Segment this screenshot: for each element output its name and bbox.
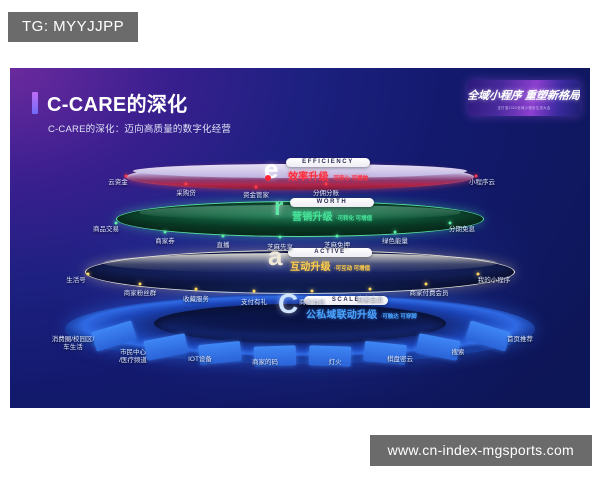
node-label: 支付有礼 [241, 299, 267, 307]
headline-scale: 公私域联动升级 [306, 306, 377, 321]
node-label: 芝麻免押 [324, 242, 350, 250]
node-label: 资金管家 [243, 192, 269, 200]
slide-canvas: C-CARE的深化 C-CARE的深化：迈向高质量的数字化经营 全域小程序 重塑… [10, 68, 590, 408]
node-label: 采购贷 [176, 190, 196, 198]
node-label: 商家消息 [299, 299, 325, 307]
node-dot [475, 175, 478, 178]
tg-watermark-badge: TG: MYYJJPP [8, 12, 138, 42]
node-label: 搜索 [452, 349, 465, 357]
badge-efficiency: EFFICIENCY 效率升级 ·可安心 可提效 [286, 158, 370, 183]
node-dot [195, 288, 198, 291]
node-dot [336, 235, 339, 238]
headline-efficiency: 效率升级 [288, 168, 329, 183]
url-watermark-badge: www.cn-index-mgsports.com [370, 435, 592, 466]
brand-logo-sub: 支付宝2022全域小程序生态大会 [497, 105, 550, 110]
node-label: 分佣分账 [313, 190, 339, 198]
node-dot [87, 273, 90, 276]
node-dot [477, 273, 480, 276]
node-dot [425, 283, 428, 286]
node-label: IOT设备 [188, 356, 212, 364]
subline-worth: 营销升级 ·可转化 可增值 [290, 208, 372, 223]
node-label: 商家券 [155, 238, 175, 246]
title-text: C-CARE的深化 [47, 88, 187, 117]
node-label: 商家会员 [357, 296, 383, 304]
node-label: 商品交易 [93, 226, 119, 234]
funnel-diagram: e EFFICIENCY 效率升级 ·可安心 可提效 云资金 采购贷 资金管家 … [10, 68, 590, 408]
node-label: 市民中心 /医疗频道 [119, 349, 147, 365]
glyph-e-icon: e [264, 156, 278, 182]
node-dot [253, 290, 256, 293]
node-dot [449, 222, 452, 225]
node-label: 棋盘密云 [387, 356, 413, 364]
node-label: 生活号 [66, 277, 86, 285]
glyph-c-icon: C [278, 290, 298, 318]
node-label: 商家粉丝群 [124, 290, 157, 298]
node-label: 直播 [217, 242, 230, 250]
subline-efficiency: 效率升级 ·可安心 可提效 [286, 168, 368, 183]
node-dot [394, 231, 397, 234]
node-label: 收藏服务 [183, 296, 209, 304]
node-label: 消费圈/校园区/ 车生活 [52, 336, 95, 352]
node-dot [139, 283, 142, 286]
badge-active: ACTIVE 互动升级 ·可互动 可增值 [288, 248, 372, 273]
tagline-active: ·可互动 可增值 [334, 264, 370, 272]
node-label: 商家的码 [252, 359, 278, 367]
glyph-e-dot-icon [265, 175, 271, 181]
subline-scale: 公私域联动升级 ·可触达 可穿脚 [304, 306, 417, 321]
node-dot [222, 235, 225, 238]
node-dot [255, 186, 258, 189]
headline-active: 互动升级 [290, 258, 331, 273]
node-dot [279, 236, 282, 239]
node-label: 小程序云 [469, 179, 495, 187]
node-label: 灯火 [329, 359, 342, 367]
title-accent-bar [32, 92, 38, 114]
subline-active: 互动升级 ·可互动 可增值 [288, 258, 370, 273]
page-title: C-CARE的深化 [32, 88, 187, 117]
node-label: 芝麻先享 [267, 244, 293, 252]
glyph-r-icon: r [274, 196, 283, 220]
node-dot [325, 183, 328, 186]
node-label: 首页推荐 [507, 336, 533, 344]
node-label: 商家付费会员 [410, 290, 449, 298]
badge-worth: WORTH 营销升级 ·可转化 可增值 [290, 198, 374, 223]
node-label: 云资金 [108, 179, 128, 187]
node-label: 分期免息 [449, 226, 475, 234]
brand-logo-main: 全域小程序 重塑新格局 [468, 87, 580, 103]
pill-worth: WORTH [290, 198, 374, 207]
node-dot [311, 290, 314, 293]
pill-efficiency: EFFICIENCY [286, 158, 370, 167]
node-dot [125, 175, 128, 178]
node-dot [115, 222, 118, 225]
node-label: 绿色能量 [382, 238, 408, 246]
tagline-scale: ·可触达 可穿脚 [380, 312, 416, 320]
tagline-worth: ·可转化 可增值 [336, 214, 372, 222]
node-dot [164, 231, 167, 234]
node-label: 我的小程序 [478, 277, 511, 285]
tagline-efficiency: ·可安心 可提效 [332, 174, 368, 182]
page-subtitle: C-CARE的深化：迈向高质量的数字化经营 [48, 121, 231, 135]
node-dot [185, 183, 188, 186]
node-dot [369, 288, 372, 291]
headline-worth: 营销升级 [292, 208, 333, 223]
brand-logo: 全域小程序 重塑新格局 支付宝2022全域小程序生态大会 [468, 80, 580, 116]
